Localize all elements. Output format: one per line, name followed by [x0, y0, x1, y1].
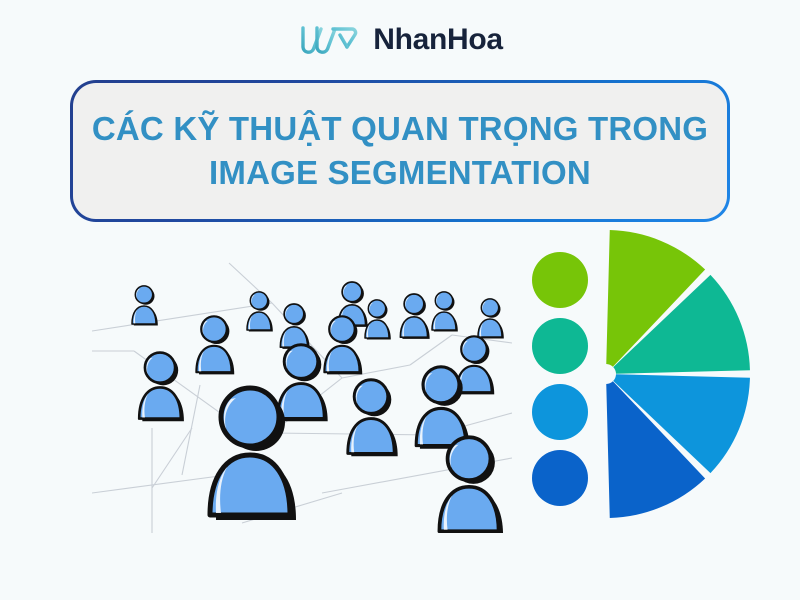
legend-dot-2	[532, 318, 588, 374]
legend-dot-4	[532, 450, 588, 506]
network-person	[439, 437, 503, 533]
network-person	[400, 294, 429, 339]
network-person	[278, 345, 328, 422]
brand-name: NhanHoa	[373, 25, 503, 55]
segmentation-pie-illustration	[520, 228, 770, 524]
legend-dot-1	[532, 252, 588, 308]
brand-header: NhanHoa	[0, 14, 800, 66]
network-link	[152, 428, 192, 488]
network-person	[196, 316, 234, 374]
network-person	[478, 299, 504, 339]
network-person	[280, 304, 309, 349]
network-person	[348, 380, 398, 457]
page-title-line-1: CÁC KỸ THUẬT QUAN TRỌNG TRONG	[91, 107, 709, 151]
network-link	[92, 303, 272, 331]
network-person	[139, 353, 184, 422]
network-person	[132, 286, 158, 326]
network-person	[247, 292, 273, 332]
network-person	[432, 292, 458, 332]
network-link	[410, 335, 452, 365]
title-card: CÁC KỸ THUẬT QUAN TRỌNG TRONG IMAGE SEGM…	[70, 80, 730, 222]
page-title: CÁC KỸ THUẬT QUAN TRỌNG TRONG IMAGE SEGM…	[73, 107, 727, 195]
network-person	[365, 300, 391, 340]
legend-dot-3	[532, 384, 588, 440]
nhanhoa-w-logo-icon	[297, 20, 359, 60]
page-title-line-2: IMAGE SEGMENTATION	[91, 151, 709, 195]
people-network-illustration	[92, 243, 512, 533]
